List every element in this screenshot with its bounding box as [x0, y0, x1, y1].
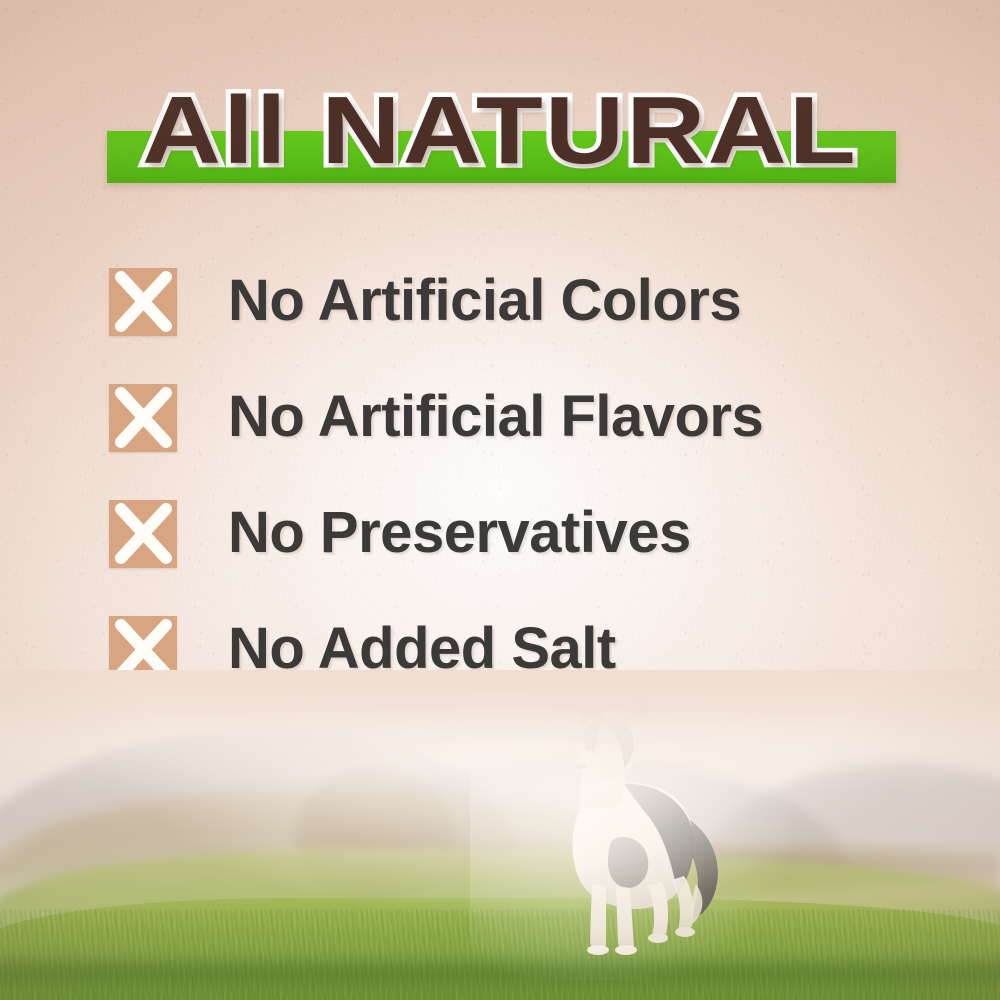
- x-mark-icon: [109, 500, 177, 568]
- x-mark-icon: [109, 268, 177, 336]
- x-mark-icon: [109, 384, 177, 452]
- border-collie-dog: [520, 688, 740, 968]
- claim-label: No Preservatives: [228, 494, 691, 572]
- claim-row: No Artificial Flavors: [109, 378, 929, 494]
- checkbox-no-preservatives: [109, 500, 177, 568]
- title-banner: All NATURAL: [0, 72, 1000, 202]
- landscape-photo: [0, 670, 1000, 1000]
- claim-label: No Artificial Colors: [228, 262, 741, 340]
- dog-silhouette-icon: [520, 688, 740, 968]
- checkbox-no-artificial-colors: [109, 268, 177, 336]
- grass-shadow-band: [0, 956, 1000, 990]
- claims-list: No Artificial Colors No Artificial Flavo…: [109, 262, 929, 726]
- claim-row: No Preservatives: [109, 494, 929, 610]
- claim-row: No Artificial Colors: [109, 262, 929, 378]
- claim-label: No Artificial Flavors: [228, 378, 763, 456]
- all-natural-poster: All NATURAL No Artificial Colors No Arti…: [0, 0, 1000, 1000]
- poster-title: All NATURAL: [0, 72, 1000, 190]
- checkbox-no-artificial-flavors: [109, 384, 177, 452]
